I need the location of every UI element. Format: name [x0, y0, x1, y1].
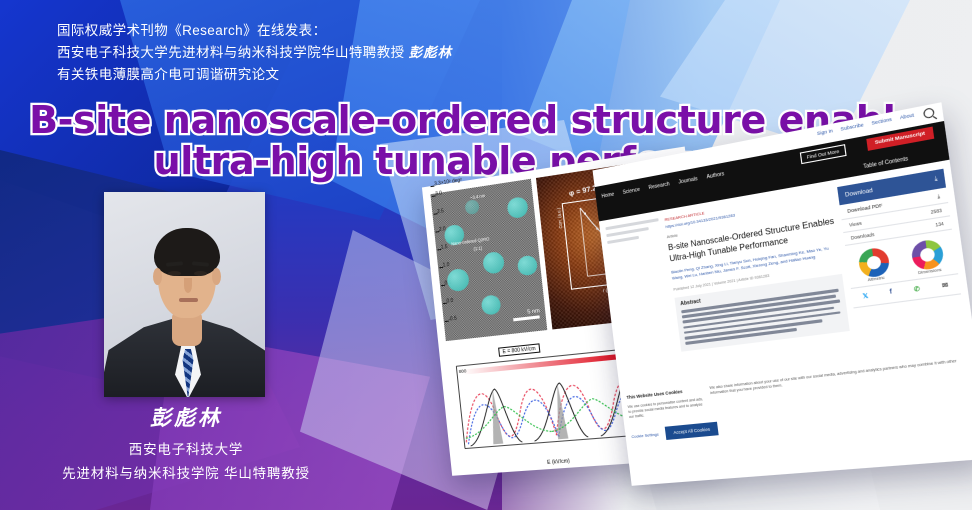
cookie-left: This Website Uses Cookies We use cookies…	[626, 387, 706, 420]
nav-item[interactable]: Journals	[678, 176, 698, 186]
colorbar-tick: 2.5	[437, 208, 444, 215]
stat-label: Downloads	[851, 232, 875, 241]
browser-card[interactable]: Sign In Subscribe Sections About Home Sc…	[593, 102, 972, 486]
top-link[interactable]: Subscribe	[840, 122, 864, 132]
colorbar-tick: 1.5	[441, 244, 448, 251]
cookie-settings-link[interactable]: Cookie Settings	[631, 431, 659, 439]
find-out-more-button[interactable]: Find Out More	[799, 144, 846, 164]
header-line-2-prefix: 西安电子科技大学先进材料与纳米科技学院华山特聘教授	[57, 45, 409, 60]
header-line-3: 有关铁电薄膜高介电可调谐研究论文	[57, 64, 617, 86]
article-sidebar: Download ⤓ Download PDF ⤓ Views 2583 Dow…	[837, 169, 968, 355]
colorbar-unit: 3.3×10² deg²	[434, 177, 462, 187]
download-icon[interactable]: ⤓	[937, 193, 940, 199]
email-icon[interactable]: ✉	[942, 281, 949, 290]
stat-value: 134	[935, 221, 944, 228]
nav-item[interactable]: Authors	[706, 171, 724, 180]
cookie-body-left: We use cookies to personalise content an…	[628, 397, 707, 420]
photo-ear-left	[153, 268, 162, 285]
profile-name: 彭彪林	[0, 402, 372, 432]
profile-affiliation-line-2: 先进材料与纳米科技学院 华山特聘教授	[0, 462, 372, 486]
colorbar-tick: -0.5	[448, 316, 457, 323]
colorbar-tick: 1.0	[443, 262, 450, 269]
twitter-icon[interactable]: 𝕏	[862, 292, 869, 300]
photo-nose	[184, 278, 192, 293]
rail-line	[605, 218, 658, 230]
download-pdf-label: Download PDF	[847, 203, 883, 214]
download-heading: Download	[845, 187, 874, 198]
photo-ear-right	[212, 268, 221, 285]
tem-nanodomain	[517, 255, 538, 277]
top-link[interactable]: Sections	[871, 116, 892, 125]
photo-mouth	[179, 298, 198, 302]
stat-label: Views	[849, 220, 862, 227]
search-icon[interactable]	[923, 107, 935, 119]
avatar	[104, 192, 265, 397]
photo-eye-right	[194, 271, 207, 276]
colorbar-tick: 3.0	[435, 190, 442, 197]
nav-item[interactable]: Research	[648, 181, 670, 191]
tem-scalebar	[513, 315, 540, 321]
chart-xlabel: E (kV/cm)	[547, 458, 570, 466]
top-link[interactable]: Sign In	[817, 128, 834, 136]
chart-label-left: 800	[459, 368, 467, 374]
colorbar-tick: 0.0	[446, 298, 453, 305]
nav-item[interactable]: Science	[622, 186, 640, 195]
profile-affiliation: 西安电子科技大学 先进材料与纳米科技学院 华山特聘教授	[0, 438, 372, 486]
poster-canvas: 国际权威学术刊物《Research》在线发表： 西安电子科技大学先进材料与纳米科…	[0, 0, 972, 510]
header-block: 国际权威学术刊物《Research》在线发表： 西安电子科技大学先进材料与纳米科…	[57, 20, 617, 86]
photo-hair	[154, 228, 220, 276]
stat-value: 2583	[930, 208, 942, 215]
facebook-icon[interactable]: f	[889, 289, 892, 297]
wechat-icon[interactable]: ✆	[913, 285, 920, 294]
dimensions-donut[interactable]	[910, 238, 945, 271]
header-line-2: 西安电子科技大学先进材料与纳米科技学院华山特聘教授 彭彪林	[57, 42, 617, 64]
altmetric-donut[interactable]	[857, 246, 891, 279]
altmetric-block[interactable]: Altmetric	[857, 246, 891, 283]
rail-line	[607, 236, 639, 244]
dimensions-block[interactable]: Dimensions	[910, 238, 945, 276]
header-line-2-name: 彭彪林	[409, 45, 453, 60]
download-icon[interactable]: ⤓	[934, 175, 938, 183]
profile-affiliation-line-1: 西安电子科技大学	[0, 438, 372, 462]
photo-eye-left	[168, 271, 181, 276]
tem-nanodomain	[506, 196, 528, 219]
header-line-1: 国际权威学术刊物《Research》在线发表：	[57, 20, 617, 42]
accept-all-cookies-button[interactable]: Accept All Cookies	[665, 422, 719, 440]
nav-item[interactable]: Home	[601, 191, 614, 199]
top-link[interactable]: About	[900, 112, 915, 120]
article-main: RESEARCH ARTICLE https://doi.org/10.3413…	[664, 188, 853, 375]
